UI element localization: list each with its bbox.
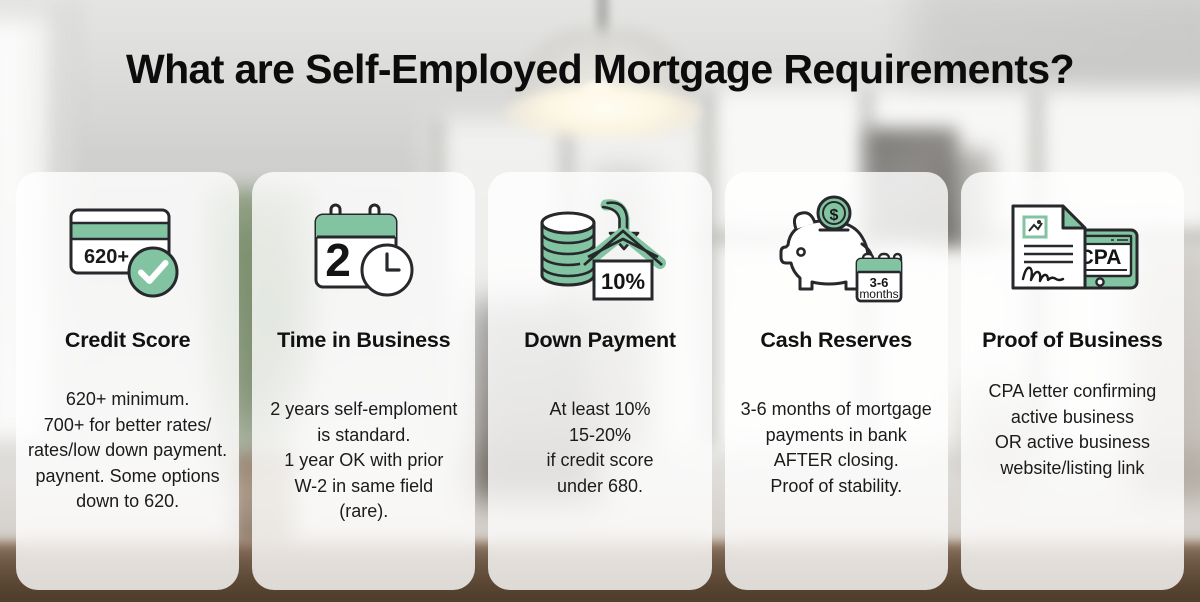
page-title: What are Self-Employed Mortgage Requirem… — [0, 46, 1200, 93]
card-body: 3-6 months of mortgage payments in bank … — [733, 397, 940, 499]
document-tablet-cpa-icon: CPA — [961, 172, 1184, 322]
pendant-lamp-glow — [506, 86, 702, 140]
card-time-in-business[interactable]: 2 Time in Business 2 years self-emplomen… — [252, 172, 475, 590]
credit-card-score-label: 620+ — [84, 246, 129, 268]
coins-house-arrow-icon: 10% — [488, 172, 711, 322]
piggy-bank-calendar-icon: $ 3-6 months — [725, 172, 948, 322]
card-body: At least 10% 15-20% if credit score unde… — [538, 397, 661, 499]
card-proof-of-business[interactable]: CPA Proof of — [961, 172, 1184, 590]
credit-card-check-icon: 620+ — [16, 172, 239, 322]
calendar-years-label: 2 — [325, 234, 351, 286]
infographic-canvas: What are Self-Employed Mortgage Requirem… — [0, 0, 1200, 602]
card-cash-reserves[interactable]: $ 3-6 months Cash Reserves 3-6 months of… — [725, 172, 948, 590]
card-down-payment[interactable]: 10% Down Payment At least 10% 15-20% if … — [488, 172, 711, 590]
card-credit-score[interactable]: 620+ Credit Score 620+ minimum. 700+ for… — [16, 172, 239, 590]
calendar-months-label: months — [860, 287, 899, 301]
card-title: Credit Score — [65, 328, 190, 353]
card-title: Proof of Business — [982, 328, 1163, 353]
requirements-card-row: 620+ Credit Score 620+ minimum. 700+ for… — [16, 172, 1184, 590]
card-title: Cash Reserves — [760, 328, 912, 353]
calendar-clock-icon: 2 — [252, 172, 475, 322]
house-percent-label: 10% — [601, 269, 645, 294]
card-title: Time in Business — [277, 328, 450, 353]
coin-dollar-label: $ — [830, 207, 839, 224]
card-body: 2 years self-emploment is standard. 1 ye… — [262, 397, 465, 525]
card-title: Down Payment — [524, 328, 676, 353]
card-body: 620+ minimum. 700+ for better rates/ rat… — [20, 387, 235, 515]
card-body: CPA letter confirming active business OR… — [981, 379, 1165, 481]
